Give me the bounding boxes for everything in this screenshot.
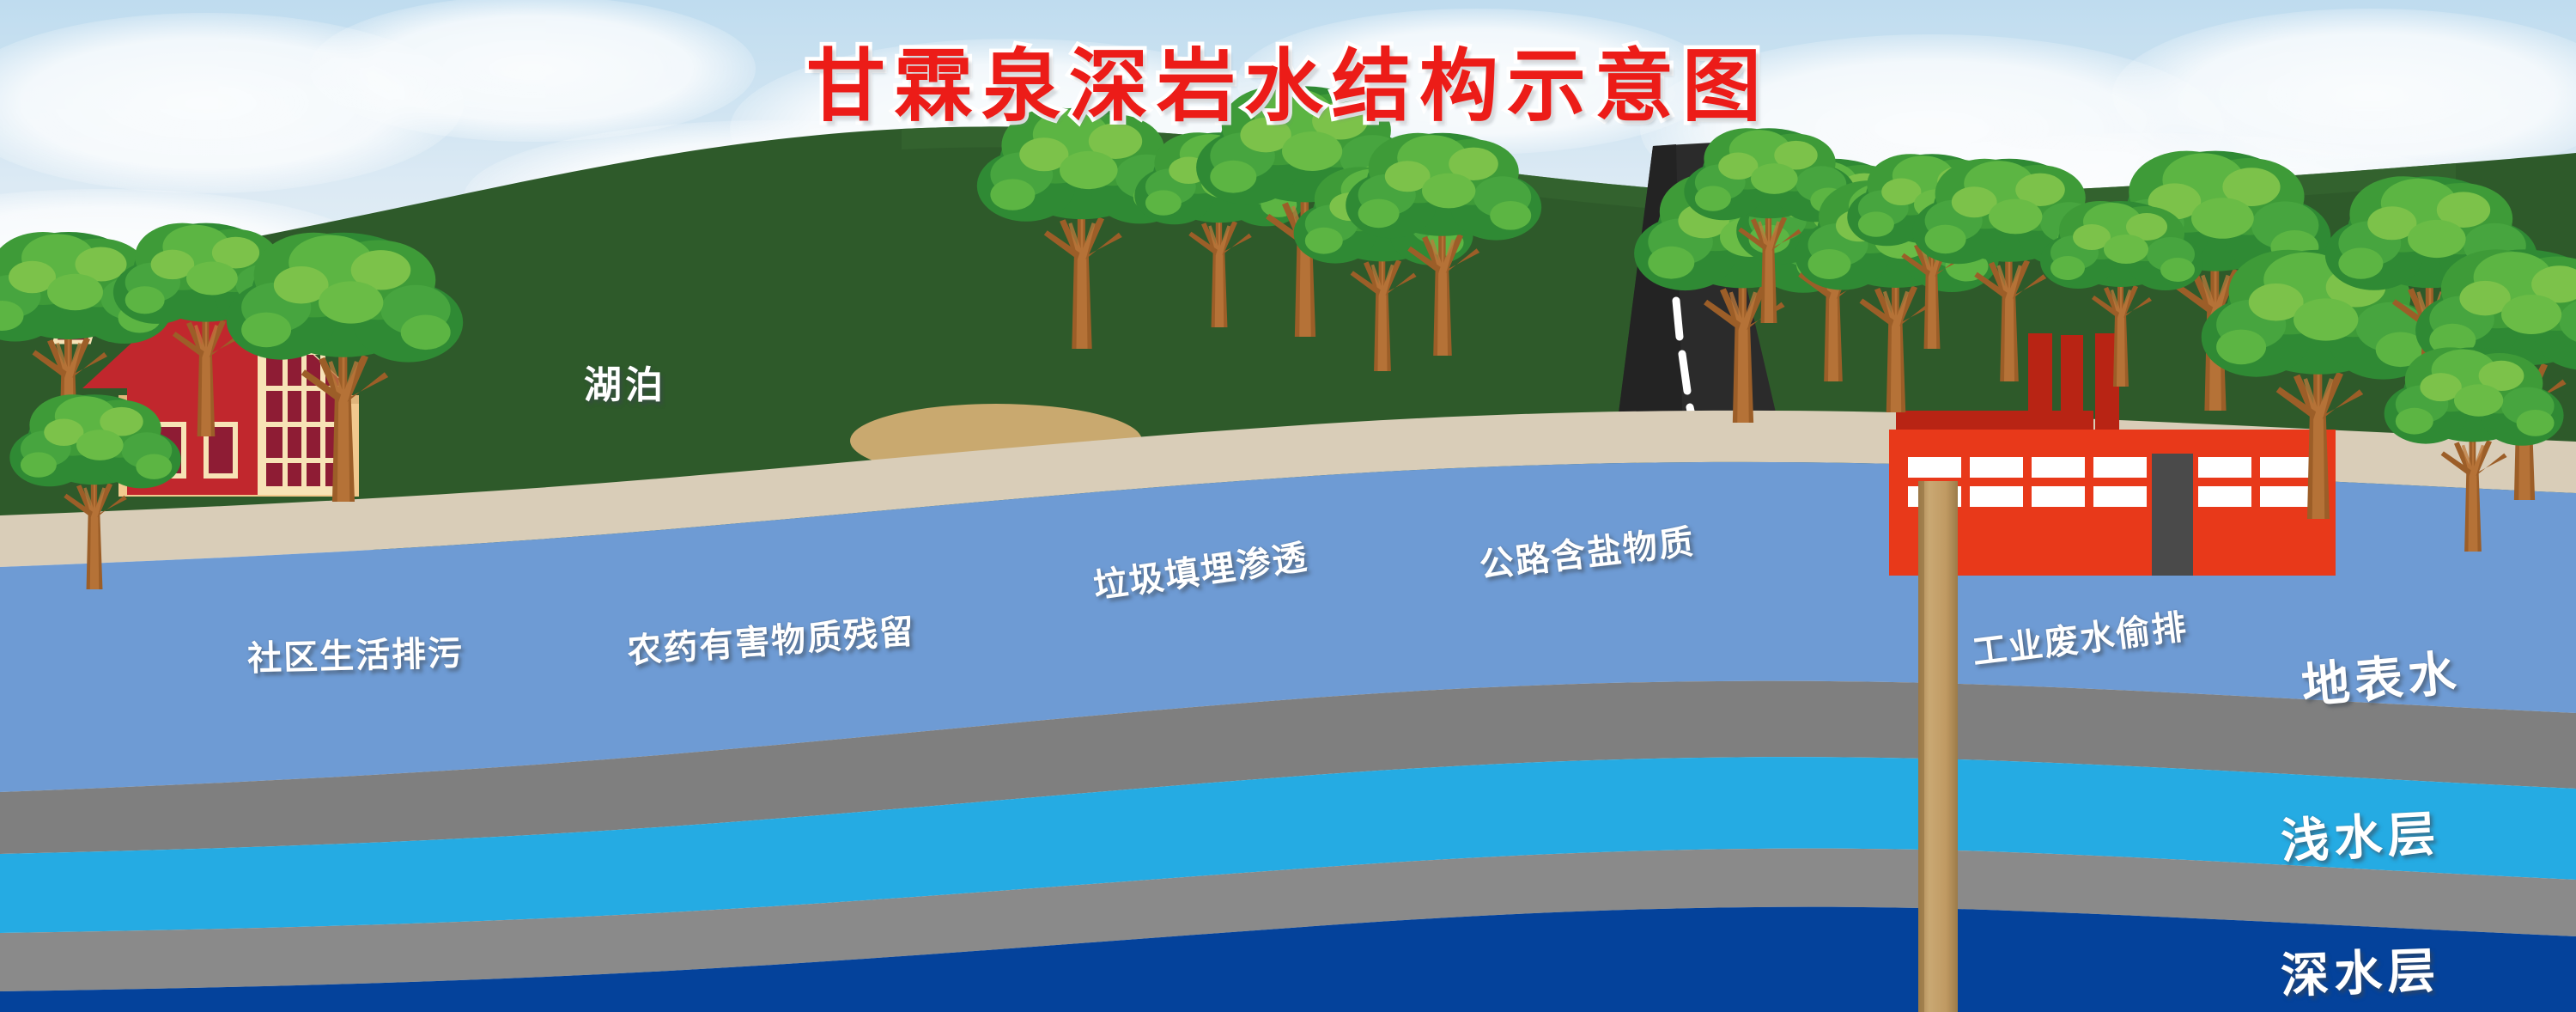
well-pipe-edge (1918, 481, 1924, 1012)
groundwater-cross-section-illustration (0, 0, 2576, 1012)
page-title: 甘霖泉深岩水结构示意图 (0, 22, 2576, 137)
diagram-canvas: 甘霖泉深岩水结构示意图 湖泊 社区生活排污 农药有害物质残留 垃圾填埋渗透 公路… (0, 0, 2576, 1012)
